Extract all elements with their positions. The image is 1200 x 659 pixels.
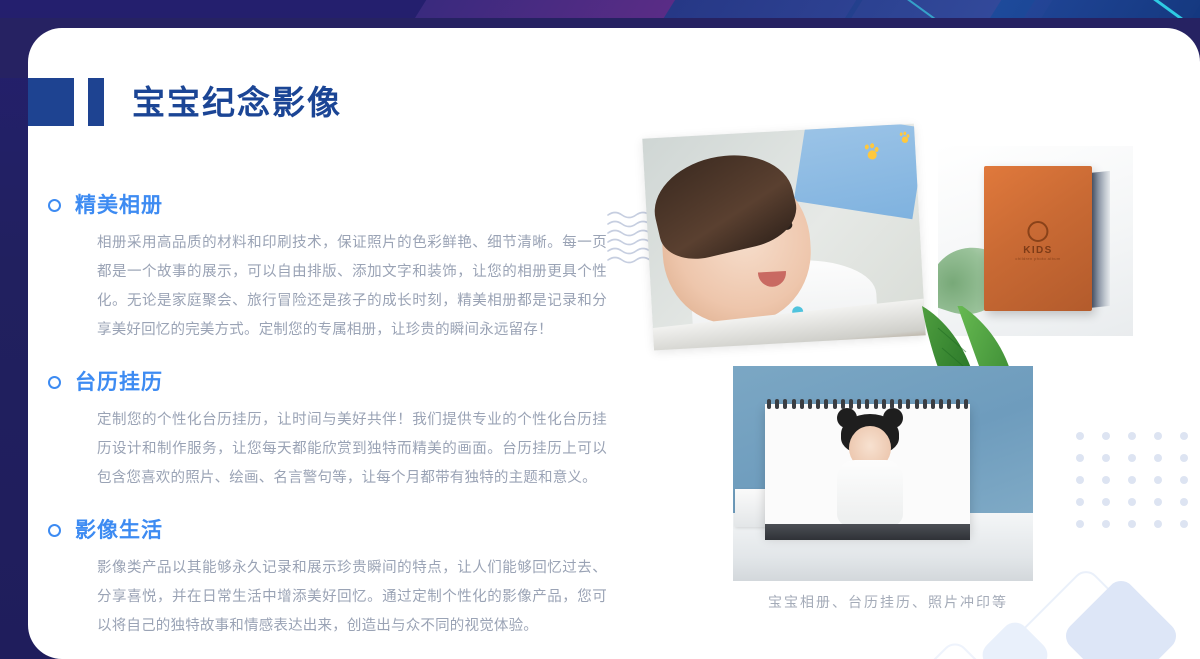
desk-calendar-photo (733, 366, 1033, 581)
feature-section-imaging: 影像生活 影像类产品以其能够永久记录和展示珍贵瞬间的特点，让人们能够回忆过去、分… (48, 519, 608, 641)
book-brand: KIDS (1015, 245, 1060, 256)
calendar-base (765, 524, 970, 540)
page-header: 宝宝纪念影像 (28, 78, 342, 126)
calendar-spiral-rings (767, 399, 968, 409)
calendar-baby-body (837, 460, 903, 526)
leather-photo-book: KIDS children photo album (938, 146, 1133, 336)
circle-outline-icon (48, 524, 61, 537)
book-logo: KIDS children photo album (1015, 221, 1060, 261)
bird-icon (1027, 221, 1048, 242)
book-cover: KIDS children photo album (984, 166, 1092, 311)
section-body: 影像类产品以其能够永久记录和展示珍贵瞬间的特点，让人们能够回忆过去、分享喜悦，并… (97, 554, 607, 641)
accent-block-large (28, 78, 74, 126)
circle-outline-icon (48, 199, 61, 212)
book-tagline: children photo album (1015, 256, 1060, 261)
media-collage: KIDS children photo album (618, 106, 1178, 626)
section-body: 定制您的个性化台历挂历，让时间与美好共伴！我们提供专业的个性化台历挂历设计和制作… (97, 406, 607, 493)
section-header: 精美相册 (48, 194, 608, 217)
section-header: 台历挂历 (48, 371, 608, 394)
section-title: 台历挂历 (75, 371, 163, 394)
feature-section-calendar: 台历挂历 定制您的个性化台历挂历，让时间与美好共伴！我们提供专业的个性化台历挂历… (48, 371, 608, 493)
feature-section-album: 精美相册 相册采用高品质的材料和印刷技术，保证照片的色彩鲜艳、细节清晰。每一页都… (48, 194, 608, 345)
paw-print-icon (901, 136, 908, 143)
accent-block-small (88, 78, 104, 126)
paw-print-icon (867, 150, 877, 160)
content-card: 宝宝纪念影像 精美相册 相册采用高品质的材料和印刷技术，保证照片的色彩鲜艳、细节… (28, 28, 1200, 659)
album-page-blue (794, 124, 926, 220)
baby-album-photo (642, 124, 925, 351)
circle-outline-icon (48, 376, 61, 389)
section-body: 相册采用高品质的材料和印刷技术，保证照片的色彩鲜艳、细节清晰。每一页都是一个故事… (97, 229, 607, 345)
section-title: 精美相册 (75, 194, 163, 217)
media-caption: 宝宝相册、台历挂历、照片冲印等 (618, 592, 1158, 612)
section-header: 影像生活 (48, 519, 608, 542)
page-title: 宝宝纪念影像 (132, 86, 342, 119)
slide-stage: 宝宝纪念影像 精美相册 相册采用高品质的材料和印刷技术，保证照片的色彩鲜艳、细节… (0, 0, 1200, 659)
feature-list: 精美相册 相册采用高品质的材料和印刷技术，保证照片的色彩鲜艳、细节清晰。每一页都… (48, 194, 608, 659)
calendar-page (765, 404, 970, 534)
section-title: 影像生活 (75, 519, 163, 542)
